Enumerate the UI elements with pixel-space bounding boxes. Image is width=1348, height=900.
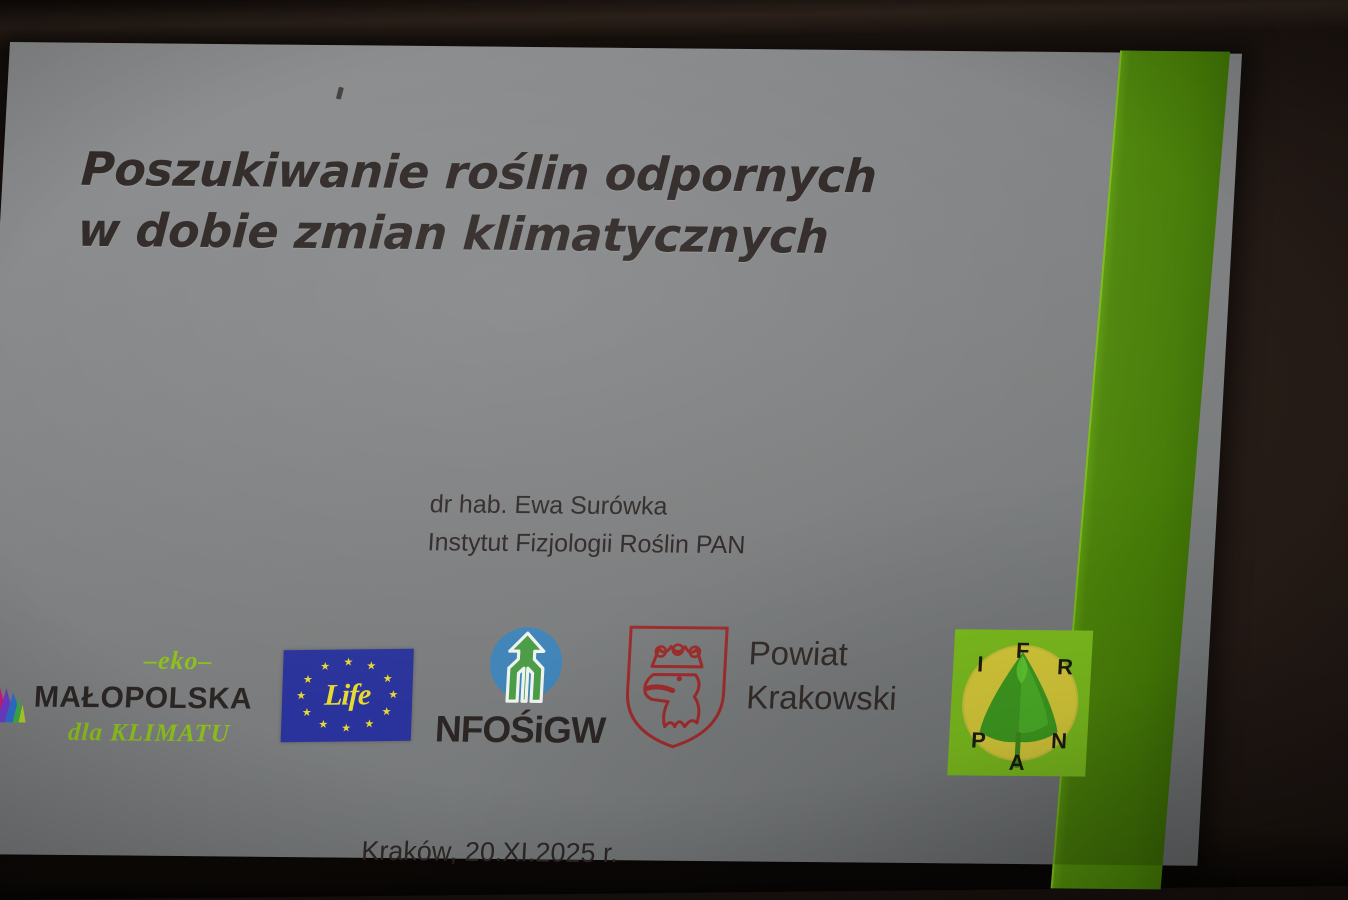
malopolska-m-mark-icon — [0, 682, 31, 724]
ifr-letter-p: P — [970, 728, 986, 753]
krakow-county-crest-icon — [619, 622, 732, 751]
ifr-letter-n: N — [1050, 728, 1067, 753]
malopolska-eko-text: –eko– — [143, 646, 213, 677]
eu-life-wordmark: Life — [281, 649, 414, 742]
ifr-pan-logo: I F R P A N — [945, 623, 1096, 779]
ifr-letter-f: F — [1015, 638, 1030, 663]
malopolska-eko-logo: –eko– MAŁOPOLSKA dla KLIMATU — [0, 640, 265, 765]
malopolska-wordmark: MAŁOPOLSKA — [33, 681, 253, 717]
title-line-1: Poszukiwanie roślin odpornych — [79, 139, 982, 209]
powiat-line-1: Powiat — [748, 631, 901, 676]
slide-content: Poszukiwanie roślin odpornych w dobie zm… — [0, 42, 1060, 864]
title-line-2: w dobie zmian klimatycznych — [76, 200, 979, 270]
malopolska-tagline: dla KLIMATU — [67, 719, 230, 749]
nfosigw-wordmark: NFOŚiGW — [426, 708, 613, 752]
slide-title: Poszukiwanie roślin odpornych w dobie zm… — [76, 139, 983, 270]
powiat-line-2: Krakowski — [745, 675, 898, 720]
powiat-krakowski-logo: Powiat Krakowski — [618, 618, 956, 771]
presenter-name: dr hab. Ewa Surówka — [429, 486, 951, 528]
ifr-letter-r: R — [1057, 654, 1074, 679]
nfosigw-emblem-icon — [478, 623, 573, 714]
projection-scene: Poszukiwanie roślin odpornych w dobie zm… — [0, 0, 1348, 900]
slide-surface: Poszukiwanie roślin odpornych w dobie zm… — [0, 42, 1242, 866]
eu-life-logo: ★★★★★★★★★★★★ Life — [281, 649, 414, 742]
ifr-letter-a: A — [1008, 750, 1025, 775]
sponsor-logo-strip: –eko– MAŁOPOLSKA dla KLIMATU ★★★★★★★★★★★… — [0, 602, 1029, 787]
powiat-krakowski-text: Powiat Krakowski — [745, 631, 900, 720]
nfosigw-logo: NFOŚiGW — [425, 620, 618, 772]
presenter-affiliation: Instytut Fizjologii Roślin PAN — [427, 524, 949, 566]
projected-slide: Poszukiwanie roślin odpornych w dobie zm… — [0, 42, 1242, 866]
presenter-block: dr hab. Ewa Surówka Instytut Fizjologii … — [427, 486, 951, 566]
